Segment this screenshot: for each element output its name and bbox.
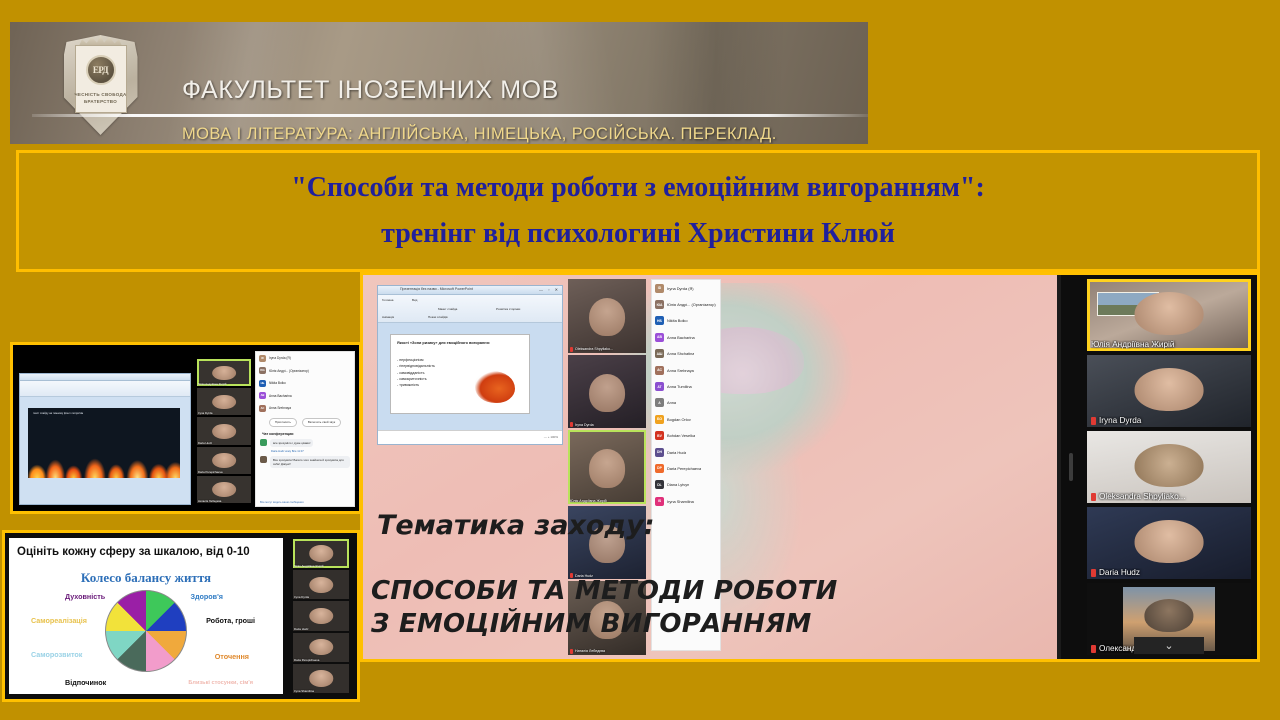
participant-name: Юлія Андрі... (Організатор) (667, 302, 716, 307)
video-tile[interactable]: Daria Perepichaeva (197, 447, 251, 474)
participant-row[interactable]: IDIryna Dyrda (Я) (256, 352, 354, 365)
chat-message: все зрозуміло і дуже цікаво! (260, 439, 350, 447)
mic-muted-icon (570, 422, 573, 427)
chat-message-sender: Daria Hudz кому Все 11:07 (271, 450, 354, 453)
chat-message: Все зрозуміло! Багато чого знайшла й зро… (260, 456, 350, 468)
slide-headline-line-2: З ЕМОЦІЙНИМ ВИГОРАННЯМ (371, 608, 837, 641)
shared-screen-slide: Презентація без назви - Microsoft PowerP… (363, 275, 1057, 659)
avatar (260, 456, 267, 463)
video-tile-name: Daria Hudz (1099, 568, 1140, 577)
avatar: DP (655, 464, 664, 473)
mic-muted-icon (1091, 645, 1096, 653)
avatar: БО (655, 415, 664, 424)
participant-name: Bogdan Orlov (667, 417, 691, 422)
video-tile-name: Юлія Андріївна Жирій (294, 564, 348, 568)
unmute-button[interactable]: Включить свой звук (302, 418, 341, 427)
wheel-label-relationships: Близькі стосунки, сім'я (188, 680, 253, 686)
wheel-slide-subheading: Колесо балансу життя (9, 570, 283, 586)
participant-name: Iryna Dyrda (Я) (667, 286, 694, 291)
avatar: IS (655, 497, 664, 506)
slide-headline-line-1: СПОСОБИ ТА МЕТОДИ РОБОТИ (371, 575, 837, 608)
thumb-a-video-strip: Юлія Андріївна Жирій Iryna Dyrda Daria H… (197, 359, 251, 503)
participant-row[interactable]: БОBogdan Orlov (652, 411, 720, 427)
emblem-motto: ЧЕСНІСТЬ СВОБОДА БРАТЕРСТВО (64, 91, 138, 105)
video-tile[interactable]: Iryna Dyrda (197, 388, 251, 415)
thumbnail-screenshot-fire-slide: текст слайду на темному фоні з полум'ям … (10, 342, 362, 514)
participant-row[interactable]: НБNikita Boiko (256, 377, 354, 390)
participant-name: Nikita Boiko (667, 318, 688, 323)
ribbon-item-3[interactable]: Розмітка сторінки (496, 307, 520, 311)
participant-name: Diana Lytvyn (667, 482, 689, 487)
participant-name: Anna Tumilina (667, 384, 692, 389)
wheel-label-selfdevelopment: Саморозвиток (31, 650, 82, 659)
video-tile[interactable]: Daria Hudz (293, 601, 349, 630)
participant-row[interactable]: НБNikita Boiko (652, 313, 720, 329)
wheel-label-work-money: Робота, гроші (206, 616, 255, 625)
chat-visibility-note: Все могут видеть ваши сообщения (260, 501, 350, 504)
avatar: ID (655, 284, 664, 293)
participant-name: Iryna Dyrda (Я) (269, 356, 291, 360)
video-tile[interactable]: Наталія Лебедєва (197, 476, 251, 503)
powerpoint-slide: Якості «Зони ризику» для емоційного виго… (390, 334, 530, 414)
participant-row[interactable]: АШAnna Shchatina (652, 346, 720, 362)
participant-row[interactable]: IDIryna Dyrda (Я) (652, 280, 720, 296)
participant-name: Iryna Shamilina (667, 499, 694, 504)
ribbon-item-4[interactable]: Анімація (382, 315, 394, 319)
video-tile-name: Наталія Лебедєва (198, 499, 250, 503)
flames-illustration-icon (28, 446, 180, 478)
panel-action-buttons: Пригласить Включить свой звук (256, 418, 354, 427)
powerpoint-titlebar: Презентація без назви - Microsoft PowerP… (378, 286, 562, 295)
event-title-line-1: "Способи та методи роботи з емоційним ви… (291, 172, 985, 204)
faculty-header-banner: ЕРД ЧЕСНІСТЬ СВОБОДА БРАТЕРСТВО ФАКУЛЬТЕ… (10, 22, 868, 144)
video-tile-name: Daria Hudz (198, 441, 250, 445)
wheel-slide-heading: Оцініть кожну сферу за шкалою, від 0-10 (17, 546, 250, 558)
avatar: ЮА (655, 300, 664, 309)
avatar: АШ (655, 349, 664, 358)
participant-row[interactable]: DPDaria Perepichaeva (652, 460, 720, 476)
participant-row[interactable]: AAnna (652, 395, 720, 411)
avatar (260, 439, 267, 446)
avatar: AB (259, 392, 266, 399)
participant-row[interactable]: ЮАЮлія Андрі... (Організатор) (256, 365, 354, 378)
ribbon-item-5[interactable]: Показ слайдів (428, 315, 448, 319)
video-tile[interactable]: Олександр Моісеєв ⌄ (1087, 583, 1251, 655)
banner-divider (32, 114, 868, 117)
participant-row[interactable]: ABAnna Bacharina (256, 390, 354, 403)
participant-row[interactable]: АСAnna Srebnaya (256, 402, 354, 415)
wheel-slide: Оцініть кожну сферу за шкалою, від 0-10 … (9, 538, 283, 694)
video-tile-name: Daria Perepichaeva (294, 658, 348, 662)
fox-illustration-icon (475, 371, 515, 403)
panel-resize-handle[interactable] (1069, 453, 1073, 481)
video-tile-name: Oleksandra Shpyliako... (1099, 492, 1185, 501)
video-tile-name: Daria Perepichaeva (198, 470, 250, 474)
video-tile-active-speaker[interactable]: Юлія Андріївна Жирій (568, 430, 646, 504)
participant-row[interactable]: ISIryna Shamilina (652, 493, 720, 509)
video-tile-name: Iryna Dyrda (294, 595, 348, 599)
participant-name: Nikita Boiko (269, 381, 286, 385)
powerpoint-window: Презентація без назви - Microsoft PowerP… (377, 285, 563, 445)
event-title-box: "Способи та методи роботи з емоційним ви… (16, 150, 1260, 272)
video-tile[interactable]: Iryna Dyrda (293, 570, 349, 599)
thumb-a-side-panel[interactable]: IDIryna Dyrda (Я) ЮАЮлія Андрі... (Орган… (255, 351, 355, 507)
participant-name: Anna (667, 400, 676, 405)
chat-message-text: Все зрозуміло! Багато чого знайшла й зро… (270, 456, 350, 468)
video-tile-name: Юлія Андріївна Жирій (570, 499, 607, 503)
mic-muted-icon (1091, 569, 1096, 577)
wheel-label-health: Здоров'я (190, 592, 223, 601)
video-tile-name: Юлія Андріївна Жирій (198, 382, 250, 386)
video-tile-name: Юлія Андріївна Жирій (1091, 340, 1174, 349)
avatar: ЮА (259, 367, 266, 374)
thumb-b-video-strip: Юлія Андріївна Жирій Iryna Dyrda Daria H… (293, 539, 349, 693)
avatar: АС (655, 366, 664, 375)
powerpoint-ribbon[interactable]: Головна Вид Макет слайда Розмітка сторін… (378, 295, 562, 323)
thumb-a-fire-slide: текст слайду на темному фоні з полум'ям (28, 408, 180, 478)
slide-title: Якості «Зони ризику» для емоційного виго… (397, 341, 523, 347)
avatar: DL (655, 480, 664, 489)
participant-name: Daria Perepichaeva (667, 466, 701, 471)
participant-name: Юлія Андрі... (Організатор) (269, 369, 309, 373)
participant-row[interactable]: АСAnna Srebnaya (652, 362, 720, 378)
video-tile-name: Daria Hudz (294, 627, 348, 631)
faculty-subtitle: МОВА І ЛІТЕРАТУРА: АНГЛІЙСЬКА, НІМЕЦЬКА,… (182, 125, 777, 144)
gallery-video-rail: Юлія Андріївна Жирій Iryna Dyrda Oleksan… (1061, 275, 1257, 659)
participant-name: Bohdan Veselka (667, 433, 695, 438)
video-tile-name: Iryna Dyrda (575, 423, 594, 427)
main-zoom-screenshot: Презентація без назви - Microsoft PowerP… (360, 272, 1260, 662)
avatar: НБ (655, 316, 664, 325)
slide-headline-text: СПОСОБИ ТА МЕТОДИ РОБОТИ З ЕМОЦІЙНИМ ВИГ… (371, 575, 837, 641)
participant-row[interactable]: ATAnna Tumilina (652, 378, 720, 394)
invite-button[interactable]: Пригласить (269, 418, 297, 427)
thumbnail-screenshot-balance-wheel: Оцініть кожну сферу за шкалою, від 0-10 … (2, 530, 360, 702)
avatar: ID (259, 355, 266, 362)
mic-muted-icon (570, 649, 573, 654)
video-tile[interactable]: Daria Perepichaeva (293, 633, 349, 662)
wheel-label-spirituality: Духовність (65, 592, 105, 601)
thumb-a-ribbon (20, 381, 190, 397)
participant-name: Anna Bacharina (269, 394, 292, 398)
mic-muted-icon (570, 347, 573, 352)
mic-muted-icon (1091, 493, 1096, 501)
powerpoint-window-title: Презентація без назви - Microsoft PowerP… (400, 287, 473, 291)
avatar: DH (655, 448, 664, 457)
video-tile[interactable]: Oleksandra Shpyliako... (568, 279, 646, 353)
participant-row[interactable]: ABAnna Bacharina (652, 329, 720, 345)
powerpoint-statusbar: — + 100% (378, 430, 562, 444)
thumb-a-powerpoint-window: текст слайду на темному фоні з полум'ям (19, 373, 191, 505)
video-tile-name: Наталія Лебедєва (575, 649, 605, 653)
zoom-control[interactable]: — + 100% (544, 435, 558, 439)
video-tile[interactable]: Daria Hudz (197, 417, 251, 444)
balance-wheel-diagram: Духовність Здоров'я Робота, гроші Саморе… (9, 590, 283, 700)
wheel-label-rest: Відпочинок (65, 678, 106, 687)
avatar: AB (655, 333, 664, 342)
participant-name: Anna Bacharina (667, 335, 695, 340)
avatar: НБ (259, 380, 266, 387)
video-tile-name: Iryna Shamilina (294, 689, 348, 693)
avatar: АС (259, 405, 266, 412)
participant-name: Daria Hudz (667, 450, 686, 455)
mic-muted-icon (1091, 417, 1096, 425)
ribbon-item-0[interactable]: Головна (382, 298, 393, 302)
participant-row[interactable]: DLDiana Lytvyn (652, 477, 720, 493)
university-emblem: ЕРД ЧЕСНІСТЬ СВОБОДА БРАТЕРСТВО (48, 26, 153, 144)
emblem-initials: ЕРД (86, 55, 116, 85)
wheel-label-environment: Оточення (215, 652, 249, 661)
ribbon-item-1[interactable]: Вид (412, 298, 417, 302)
chat-panel-title: Чат конференции (262, 432, 354, 436)
ribbon-item-2[interactable]: Макет слайда (438, 307, 457, 311)
avatar: BV (655, 431, 664, 440)
video-tile[interactable]: Iryna Dyrda (568, 355, 646, 429)
video-tile-name: Iryna Dyrda (198, 411, 250, 415)
chevron-down-icon[interactable]: ⌄ (1134, 637, 1204, 654)
slide-bullets: - перфекціонізм - гіпервідповідальність … (397, 357, 435, 388)
slide-bullet: - гіпервідповідальність (397, 363, 435, 369)
window-controls[interactable]: — ▫ ✕ (539, 287, 560, 292)
avatar: AT (655, 382, 664, 391)
video-tile[interactable]: Oleksandra Shpyliako... (1087, 431, 1251, 503)
wheel-chart (105, 590, 187, 672)
chat-message-text: все зрозуміло і дуже цікаво! (270, 439, 313, 447)
video-tile-active-speaker[interactable]: Юлія Андріївна Жирій (293, 539, 349, 568)
slide-kicker-text: Тематика заходу: (377, 510, 655, 541)
wheel-label-selfrealization: Самореалізація (31, 616, 87, 625)
participant-name: Anna Srebnaya (667, 368, 694, 373)
participant-name: Anna Shchatina (667, 351, 694, 356)
event-title-line-2: тренінг від психологині Христини Клюй (381, 218, 895, 250)
thumb-a-titlebar (20, 374, 190, 381)
participant-row[interactable]: DHDaria Hudz (652, 444, 720, 460)
video-tile[interactable]: Daria Hudz (1087, 507, 1251, 579)
video-tile-name: Oleksandra Shpyliako... (575, 347, 613, 351)
thumb-a-slide-text: текст слайду на темному фоні з полум'ям (33, 412, 175, 416)
video-tile-active-speaker[interactable]: Юлія Андріївна Жирій (1087, 279, 1251, 351)
avatar: A (655, 398, 664, 407)
slide-bullet: - тривожність (397, 382, 435, 388)
faculty-title: ФАКУЛЬТЕТ ІНОЗЕМНИХ МОВ (182, 76, 559, 105)
participant-row[interactable]: BVBohdan Veselka (652, 428, 720, 444)
participant-name: Anna Srebnaya (269, 406, 291, 410)
video-tile-name: Iryna Dyrda (1099, 416, 1141, 425)
participant-row[interactable]: ЮАЮлія Андрі... (Організатор) (652, 296, 720, 312)
video-tile[interactable]: Iryna Dyrda (1087, 355, 1251, 427)
video-tile[interactable]: Iryna Shamilina (293, 664, 349, 693)
video-tile-active-speaker[interactable]: Юлія Андріївна Жирій (197, 359, 251, 386)
